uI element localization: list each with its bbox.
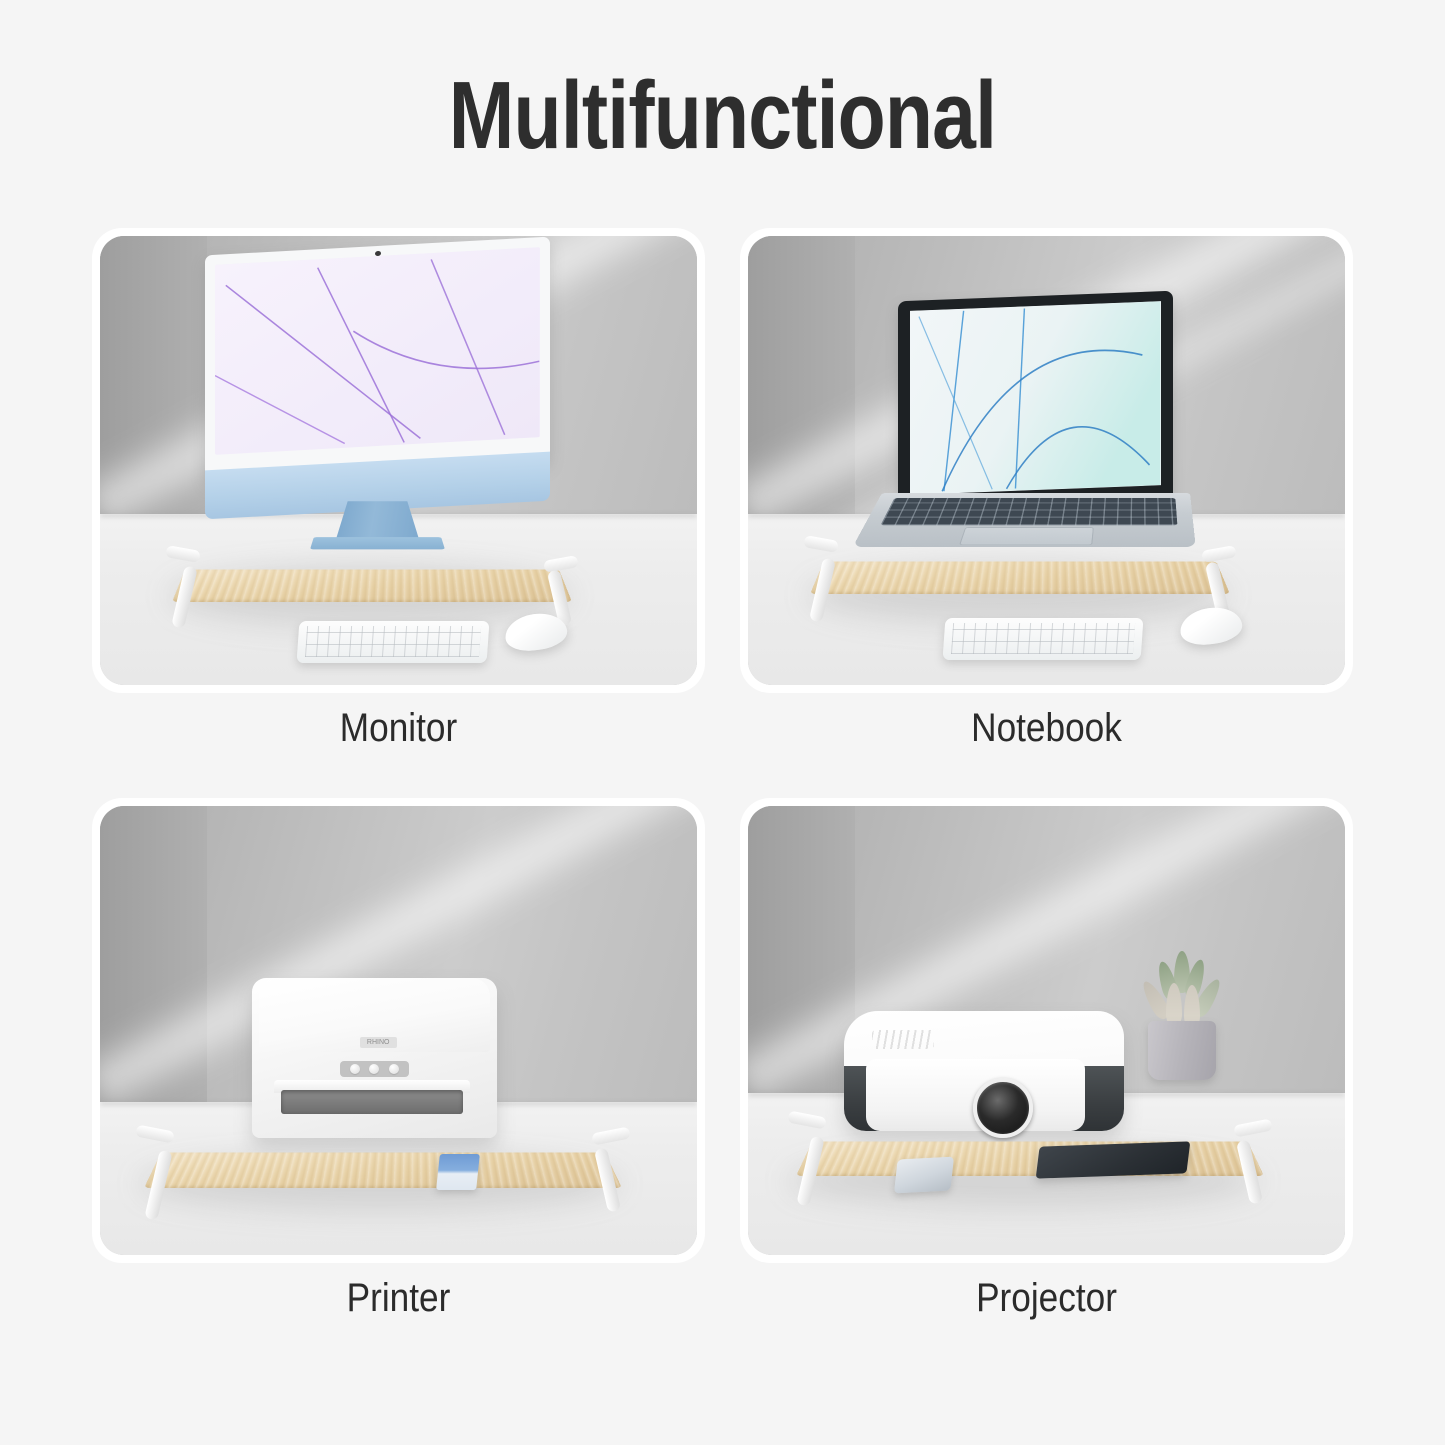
feature-cell-printer: RHINO: [92, 798, 705, 1263]
projector-vent-icon: [872, 1030, 934, 1049]
monitor-stand-neck: [336, 501, 419, 539]
printer-device: RHINO: [252, 978, 497, 1138]
printer-button-2[interactable]: [369, 1064, 379, 1074]
photo-monitor: [100, 236, 697, 685]
plant-leaves: [1140, 949, 1224, 1028]
printer-button-3[interactable]: [389, 1064, 399, 1074]
monitor-screen: [215, 247, 539, 455]
wood-grain-texture: [796, 1141, 1264, 1176]
keyboard-keys: [951, 623, 1135, 654]
caption-notebook: Notebook: [777, 706, 1316, 751]
riser-stand-printer: [144, 1116, 622, 1226]
printer-button-1[interactable]: [350, 1064, 360, 1074]
feature-cell-projector: Projector: [740, 798, 1353, 1263]
monitor-webcam-icon: [375, 251, 381, 256]
plant-pot: [1148, 1021, 1215, 1080]
riser-wood-board: [796, 1141, 1264, 1176]
wood-grain-texture: [144, 1153, 622, 1188]
panel-printer[interactable]: RHINO: [92, 798, 705, 1263]
smartphone: [894, 1157, 954, 1194]
panel-notebook[interactable]: [740, 228, 1353, 693]
riser-wood-board: [144, 1153, 622, 1188]
feature-cell-monitor: Monitor: [92, 228, 705, 693]
riser-wood-board: [172, 569, 572, 602]
wood-grain-texture: [810, 561, 1230, 594]
monitor-wallpaper-icon: [215, 247, 539, 455]
keyboard: [943, 618, 1144, 660]
wood-grain-texture: [172, 569, 572, 602]
photo-printer: RHINO: [100, 806, 697, 1255]
feature-cell-notebook: Notebook: [740, 228, 1353, 693]
riser-stand-projector: [796, 1106, 1264, 1216]
caption-monitor: Monitor: [129, 706, 668, 751]
printer-paper-slot: [281, 1090, 462, 1114]
printer-control-panel: [340, 1061, 409, 1077]
page-title: Multifunctional: [130, 68, 1315, 164]
notebook-screen: [910, 302, 1160, 495]
succulent-plant: [1140, 952, 1224, 1080]
panel-projector[interactable]: [740, 798, 1353, 1263]
riser-stand-notebook: [810, 528, 1230, 628]
photo-projector: [748, 806, 1345, 1255]
feature-grid: Monitor: [92, 228, 1353, 1348]
caption-projector: Projector: [777, 1276, 1316, 1321]
notebook-wallpaper-icon: [910, 302, 1160, 495]
notebook-keyboard: [880, 498, 1176, 525]
panel-monitor[interactable]: [92, 228, 705, 693]
keyboard-keys: [305, 626, 482, 657]
monitor-device: [205, 246, 550, 536]
notebook-lid: [898, 291, 1173, 510]
keyboard: [297, 621, 490, 663]
printer-brand-badge: RHINO: [360, 1037, 397, 1048]
photo-notebook: [748, 236, 1345, 685]
caption-printer: Printer: [129, 1276, 668, 1321]
riser-wood-board: [810, 561, 1230, 594]
stapler: [436, 1154, 480, 1190]
monitor-bezel: [205, 237, 550, 482]
tablet: [1036, 1141, 1191, 1178]
